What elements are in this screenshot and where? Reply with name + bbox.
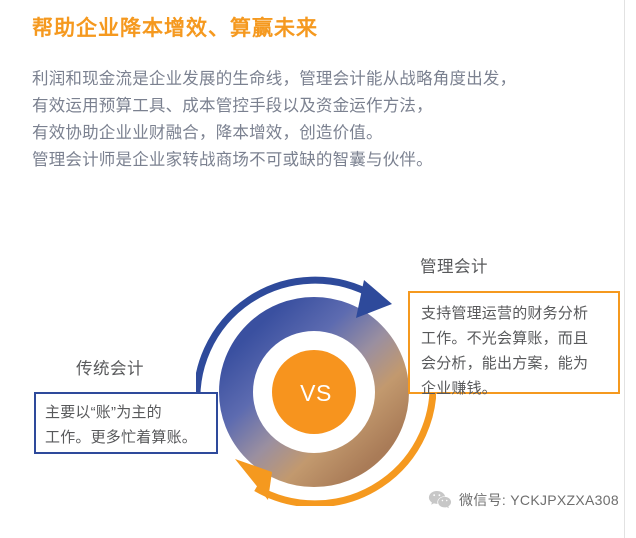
footer-wechat-id: 微信号: YCKJPXZXA308 <box>459 490 619 510</box>
slide-right-rule <box>624 0 625 538</box>
body-line-2: 有效运用预算工具、成本管控手段以及资金运作方法， <box>32 93 612 120</box>
callout-right-line-2: 工作。不光会算账，而且 <box>421 326 607 351</box>
callout-right-line-3: 会分析，能出方案，能为 <box>421 351 607 376</box>
callout-right-line-4: 企业赚钱。 <box>421 376 607 401</box>
body-line-3: 有效协助企业业财融合，降本增效，创造价值。 <box>32 120 612 147</box>
vs-comparison-graphic <box>196 274 436 506</box>
callout-traditional-accounting: 主要以“账”为主的 工作。更多忙着算账。 <box>34 392 218 454</box>
arrow-blue-head <box>356 280 392 318</box>
body-line-1: 利润和现金流是企业发展的生命线，管理会计能从战略角度出发， <box>32 66 612 93</box>
body-paragraph: 利润和现金流是企业发展的生命线，管理会计能从战略角度出发， 有效运用预算工具、成… <box>32 66 612 174</box>
vs-badge-circle <box>272 350 356 434</box>
callout-right-line-1: 支持管理运营的财务分析 <box>421 301 607 326</box>
label-traditional-accounting: 传统会计 <box>76 355 144 379</box>
callout-left-line-2: 工作。更多忙着算账。 <box>45 425 207 450</box>
callout-management-accounting: 支持管理运营的财务分析 工作。不光会算账，而且 会分析，能出方案，能为 企业赚钱… <box>408 291 620 394</box>
wechat-icon <box>428 490 452 510</box>
page-title: 帮助企业降本增效、算赢未来 <box>32 12 318 42</box>
callout-left-line-1: 主要以“账”为主的 <box>45 400 207 425</box>
footer: 微信号: YCKJPXZXA308 <box>428 490 619 510</box>
body-line-4: 管理会计师是企业家转战商场不可或缺的智囊与伙伴。 <box>32 147 612 174</box>
label-management-accounting: 管理会计 <box>420 253 488 277</box>
slide-canvas: 帮助企业降本增效、算赢未来 利润和现金流是企业发展的生命线，管理会计能从战略角度… <box>0 0 636 538</box>
